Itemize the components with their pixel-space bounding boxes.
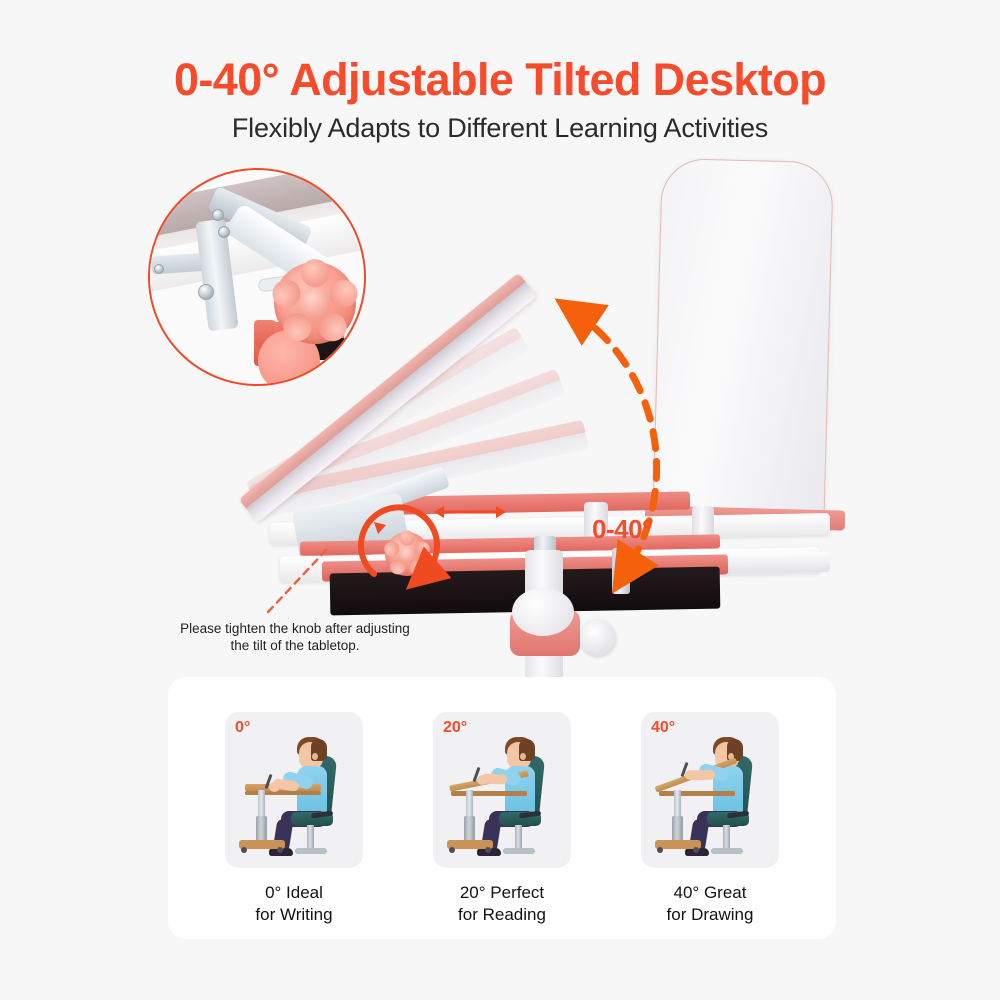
posture-card-0deg[interactable]: 0° bbox=[225, 712, 363, 868]
center-column-cap bbox=[512, 588, 574, 636]
screw-icon bbox=[218, 226, 230, 238]
posture-cards-row: 0° bbox=[168, 677, 836, 939]
posture-caption-20deg: 20° Perfect for Reading bbox=[412, 882, 592, 926]
caster-icon bbox=[449, 847, 455, 853]
desk-edge bbox=[451, 791, 527, 796]
desk-leg-lower bbox=[464, 816, 475, 842]
posture-card-20deg[interactable]: 20° bbox=[433, 712, 571, 868]
chair-base bbox=[295, 848, 327, 854]
posture-card-image-0deg: 0° bbox=[225, 712, 363, 868]
page-title: 0-40° Adjustable Tilted Desktop bbox=[0, 54, 1000, 106]
caption-line-1: 40° Great bbox=[620, 882, 800, 904]
screw-icon bbox=[198, 284, 214, 300]
angle-badge: 40° bbox=[651, 719, 675, 737]
height-adjust-knob-icon bbox=[580, 620, 616, 656]
infographic-page: 0-40° Adjustable Tilted Desktop Flexibly… bbox=[0, 0, 1000, 1000]
tilt-range-label: 0-40° bbox=[592, 514, 652, 545]
hand bbox=[477, 775, 488, 785]
angle-badge: 20° bbox=[443, 719, 467, 737]
caster-icon bbox=[693, 847, 699, 853]
caption-line-2: for Writing bbox=[204, 904, 384, 926]
desk-leg-lower bbox=[256, 816, 267, 842]
posture-caption-40deg: 40° Great for Drawing bbox=[620, 882, 800, 926]
note-line-1: Please tighten the knob after adjusting bbox=[150, 620, 440, 637]
caption-line-1: 20° Perfect bbox=[412, 882, 592, 904]
hinge-detail-inset bbox=[148, 168, 366, 386]
hand bbox=[269, 782, 280, 792]
product-scene: 0-40° Please tighten the knob after adju… bbox=[0, 150, 1000, 680]
metal-bracket bbox=[612, 548, 630, 594]
caption-line-1: 0° Ideal bbox=[204, 882, 384, 904]
ear bbox=[520, 753, 526, 760]
posture-card-image-20deg: 20° bbox=[433, 712, 571, 868]
posture-card-40deg[interactable]: 40° bbox=[641, 712, 779, 868]
chair-base bbox=[503, 848, 535, 854]
caster-icon bbox=[485, 847, 491, 853]
note-line-2: the tilt of the tabletop. bbox=[150, 637, 440, 654]
posture-cards-panel: 0° bbox=[168, 677, 836, 939]
caster-icon bbox=[241, 847, 247, 853]
chair-base bbox=[711, 848, 743, 854]
caster-icon bbox=[277, 847, 283, 853]
posture-caption-0deg: 0° Ideal for Writing bbox=[204, 882, 384, 926]
tighten-knob-note: Please tighten the knob after adjusting … bbox=[150, 620, 440, 654]
page-subtitle: Flexibly Adapts to Different Learning Ac… bbox=[0, 113, 1000, 144]
desk-edge bbox=[659, 791, 735, 796]
posture-card-image-40deg: 40° bbox=[641, 712, 779, 868]
caption-line-2: for Drawing bbox=[620, 904, 800, 926]
desk-edge bbox=[245, 791, 321, 795]
caster-icon bbox=[657, 847, 663, 853]
tilt-knob-icon bbox=[274, 262, 356, 344]
desktop-upright-position bbox=[652, 158, 834, 532]
screw-icon bbox=[154, 264, 164, 274]
hand bbox=[685, 770, 696, 780]
tilt-knob-main-icon bbox=[385, 532, 429, 576]
angle-badge: 0° bbox=[235, 719, 250, 737]
screw-icon bbox=[212, 209, 224, 221]
ear bbox=[312, 753, 318, 760]
caption-line-2: for Reading bbox=[412, 904, 592, 926]
desk-leg-lower bbox=[672, 816, 683, 842]
